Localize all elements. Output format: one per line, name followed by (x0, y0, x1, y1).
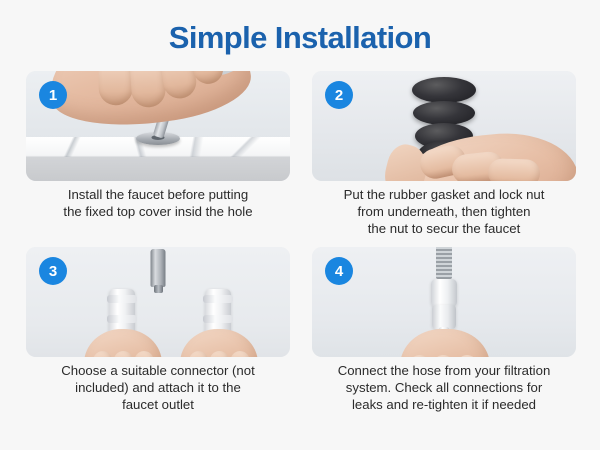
installation-guide-page: Simple Installation (0, 0, 600, 450)
rubber-gasket (412, 77, 476, 103)
caption-line: Put the rubber gasket and lock nut (313, 186, 575, 203)
caption-line: from underneath, then tighten (313, 203, 575, 220)
step-card-4: 4 Connect the hose from your filtration … (312, 247, 576, 413)
step-badge-1: 1 (39, 81, 67, 109)
caption-line: the fixed top cover insid the hole (27, 203, 289, 220)
caption-line: the nut to secur the faucet (313, 220, 575, 237)
connector-ring (203, 295, 233, 303)
page-title: Simple Installation (0, 0, 600, 53)
caption-line: system. Check all connections for (313, 379, 575, 396)
hand (84, 329, 162, 357)
finger (408, 354, 433, 357)
step-badge-3: 3 (39, 257, 67, 285)
finger (129, 71, 166, 108)
caption-line: faucet outlet (27, 396, 289, 413)
scene-faucet-install (26, 71, 290, 181)
connector-upper (431, 279, 457, 307)
step-1-caption: Install the faucet before putting the fi… (27, 186, 289, 220)
caption-line: Connect the hose from your filtration (313, 362, 575, 379)
step-card-2: 2 Put the rubber gasket and lock nut fro… (312, 71, 576, 237)
finger (209, 351, 229, 357)
step-4-image: 4 (312, 247, 576, 357)
steps-grid: 1 Install the faucet before putting the … (0, 71, 600, 413)
finger (188, 350, 211, 357)
rubber-gasket (413, 101, 475, 125)
finger (454, 354, 479, 357)
finger (228, 350, 250, 357)
finger (92, 350, 115, 357)
step-2-image: 2 (312, 71, 576, 181)
step-badge-2: 2 (325, 81, 353, 109)
finger (113, 351, 133, 357)
finger (98, 71, 133, 106)
finger (488, 158, 541, 181)
caption-line: included) and attach it to the (27, 379, 289, 396)
step-2-caption: Put the rubber gasket and lock nut from … (313, 186, 575, 237)
hand (180, 329, 258, 357)
connector-unit-left (78, 279, 166, 357)
finger (433, 355, 455, 357)
connector-ring (107, 295, 137, 303)
step-3-caption: Choose a suitable connector (not include… (27, 362, 289, 413)
connector-unit-right (174, 279, 262, 357)
step-3-image: 3 (26, 247, 290, 357)
caption-line: Choose a suitable connector (not (27, 362, 289, 379)
step-1-image: 1 (26, 71, 290, 181)
connector-ring (203, 315, 233, 323)
step-card-3: 3 Choose a suitable connector (not inclu… (26, 247, 290, 413)
scene-gasket-locknut (312, 71, 576, 181)
finger (159, 71, 198, 101)
connector-ring (107, 315, 137, 323)
step-card-1: 1 Install the faucet before putting the … (26, 71, 290, 237)
connector-lower (432, 305, 456, 329)
scene-choose-connector (26, 247, 290, 357)
caption-line: Install the faucet before putting (27, 186, 289, 203)
step-badge-4: 4 (325, 257, 353, 285)
scene-connect-hose (312, 247, 576, 357)
threaded-shaft (436, 247, 452, 279)
caption-line: leaks and re-tighten it if needed (313, 396, 575, 413)
finger (132, 350, 154, 357)
step-4-caption: Connect the hose from your filtration sy… (313, 362, 575, 413)
